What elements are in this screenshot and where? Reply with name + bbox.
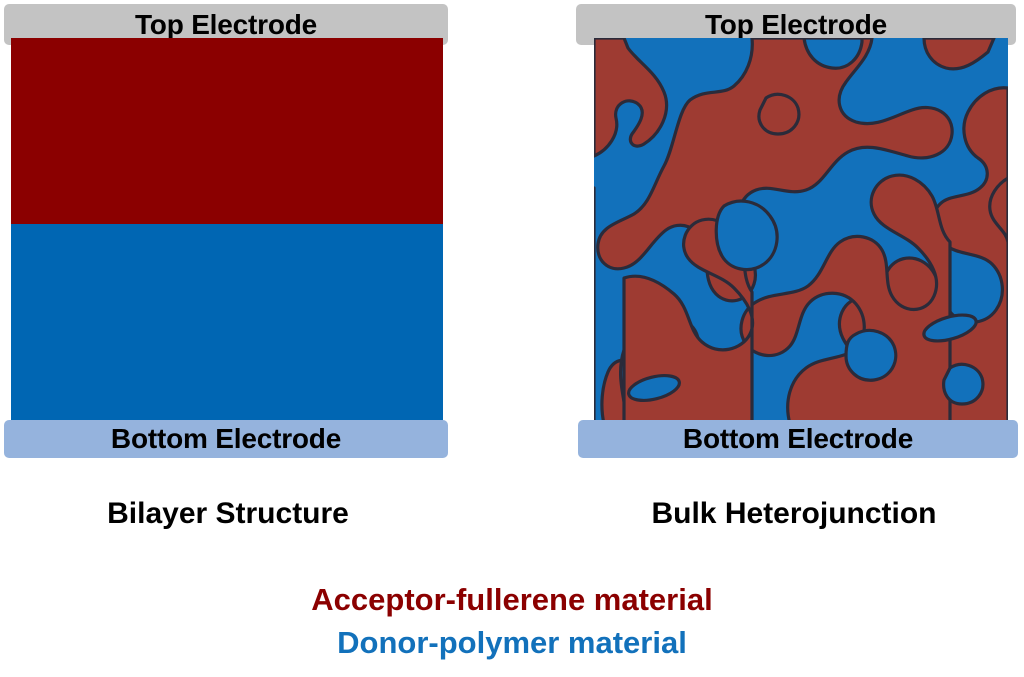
donor-inclusion-lower-right xyxy=(944,364,983,404)
bilayer-active-layer-stack xyxy=(11,38,443,424)
bhj-bottom-electrode-label: Bottom Electrode xyxy=(683,423,913,455)
bilayer-acceptor-layer xyxy=(11,38,443,224)
legend-acceptor-label: Acceptor-fullerene material xyxy=(0,578,1024,621)
donor-inclusion-lower-centre xyxy=(846,330,896,380)
bhj-top-electrode-label: Top Electrode xyxy=(705,9,887,41)
acceptor-domain-small-upper xyxy=(759,94,799,134)
bhj-active-layer-stack xyxy=(594,38,1008,424)
bilayer-bottom-electrode-label: Bottom Electrode xyxy=(111,423,341,455)
legend: Acceptor-fullerene material Donor-polyme… xyxy=(0,578,1024,664)
bhj-morphology-graphic xyxy=(594,38,1008,424)
bilayer-caption: Bilayer Structure xyxy=(0,497,456,531)
bilayer-donor-layer xyxy=(11,224,443,424)
bilayer-bottom-electrode: Bottom Electrode xyxy=(4,420,448,458)
bhj-bottom-electrode: Bottom Electrode xyxy=(578,420,1018,458)
legend-donor-label: Donor-polymer material xyxy=(0,621,1024,664)
donor-inclusion-upper-left xyxy=(716,201,777,270)
bhj-caption: Bulk Heterojunction xyxy=(564,497,1024,531)
bilayer-top-electrode-label: Top Electrode xyxy=(135,9,317,41)
